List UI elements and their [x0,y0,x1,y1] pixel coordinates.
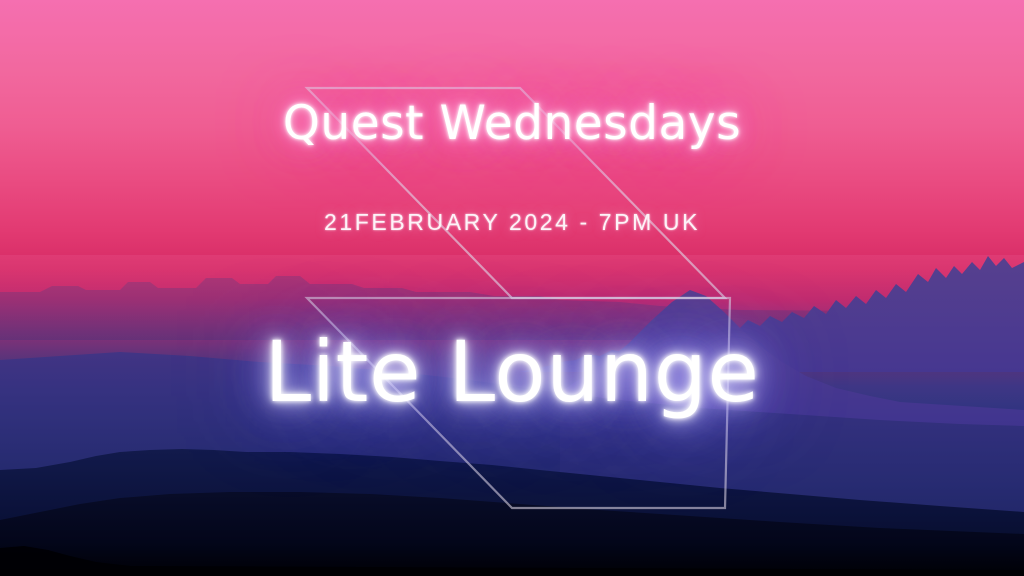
poster-canvas: Quest Wednesdays 21FEBRUARY 2024 - 7PM U… [0,0,1024,576]
geometric-outline-frame [0,0,1024,576]
parallelogram-bottom-shape [307,298,730,508]
parallelogram-top-shape [307,88,725,298]
